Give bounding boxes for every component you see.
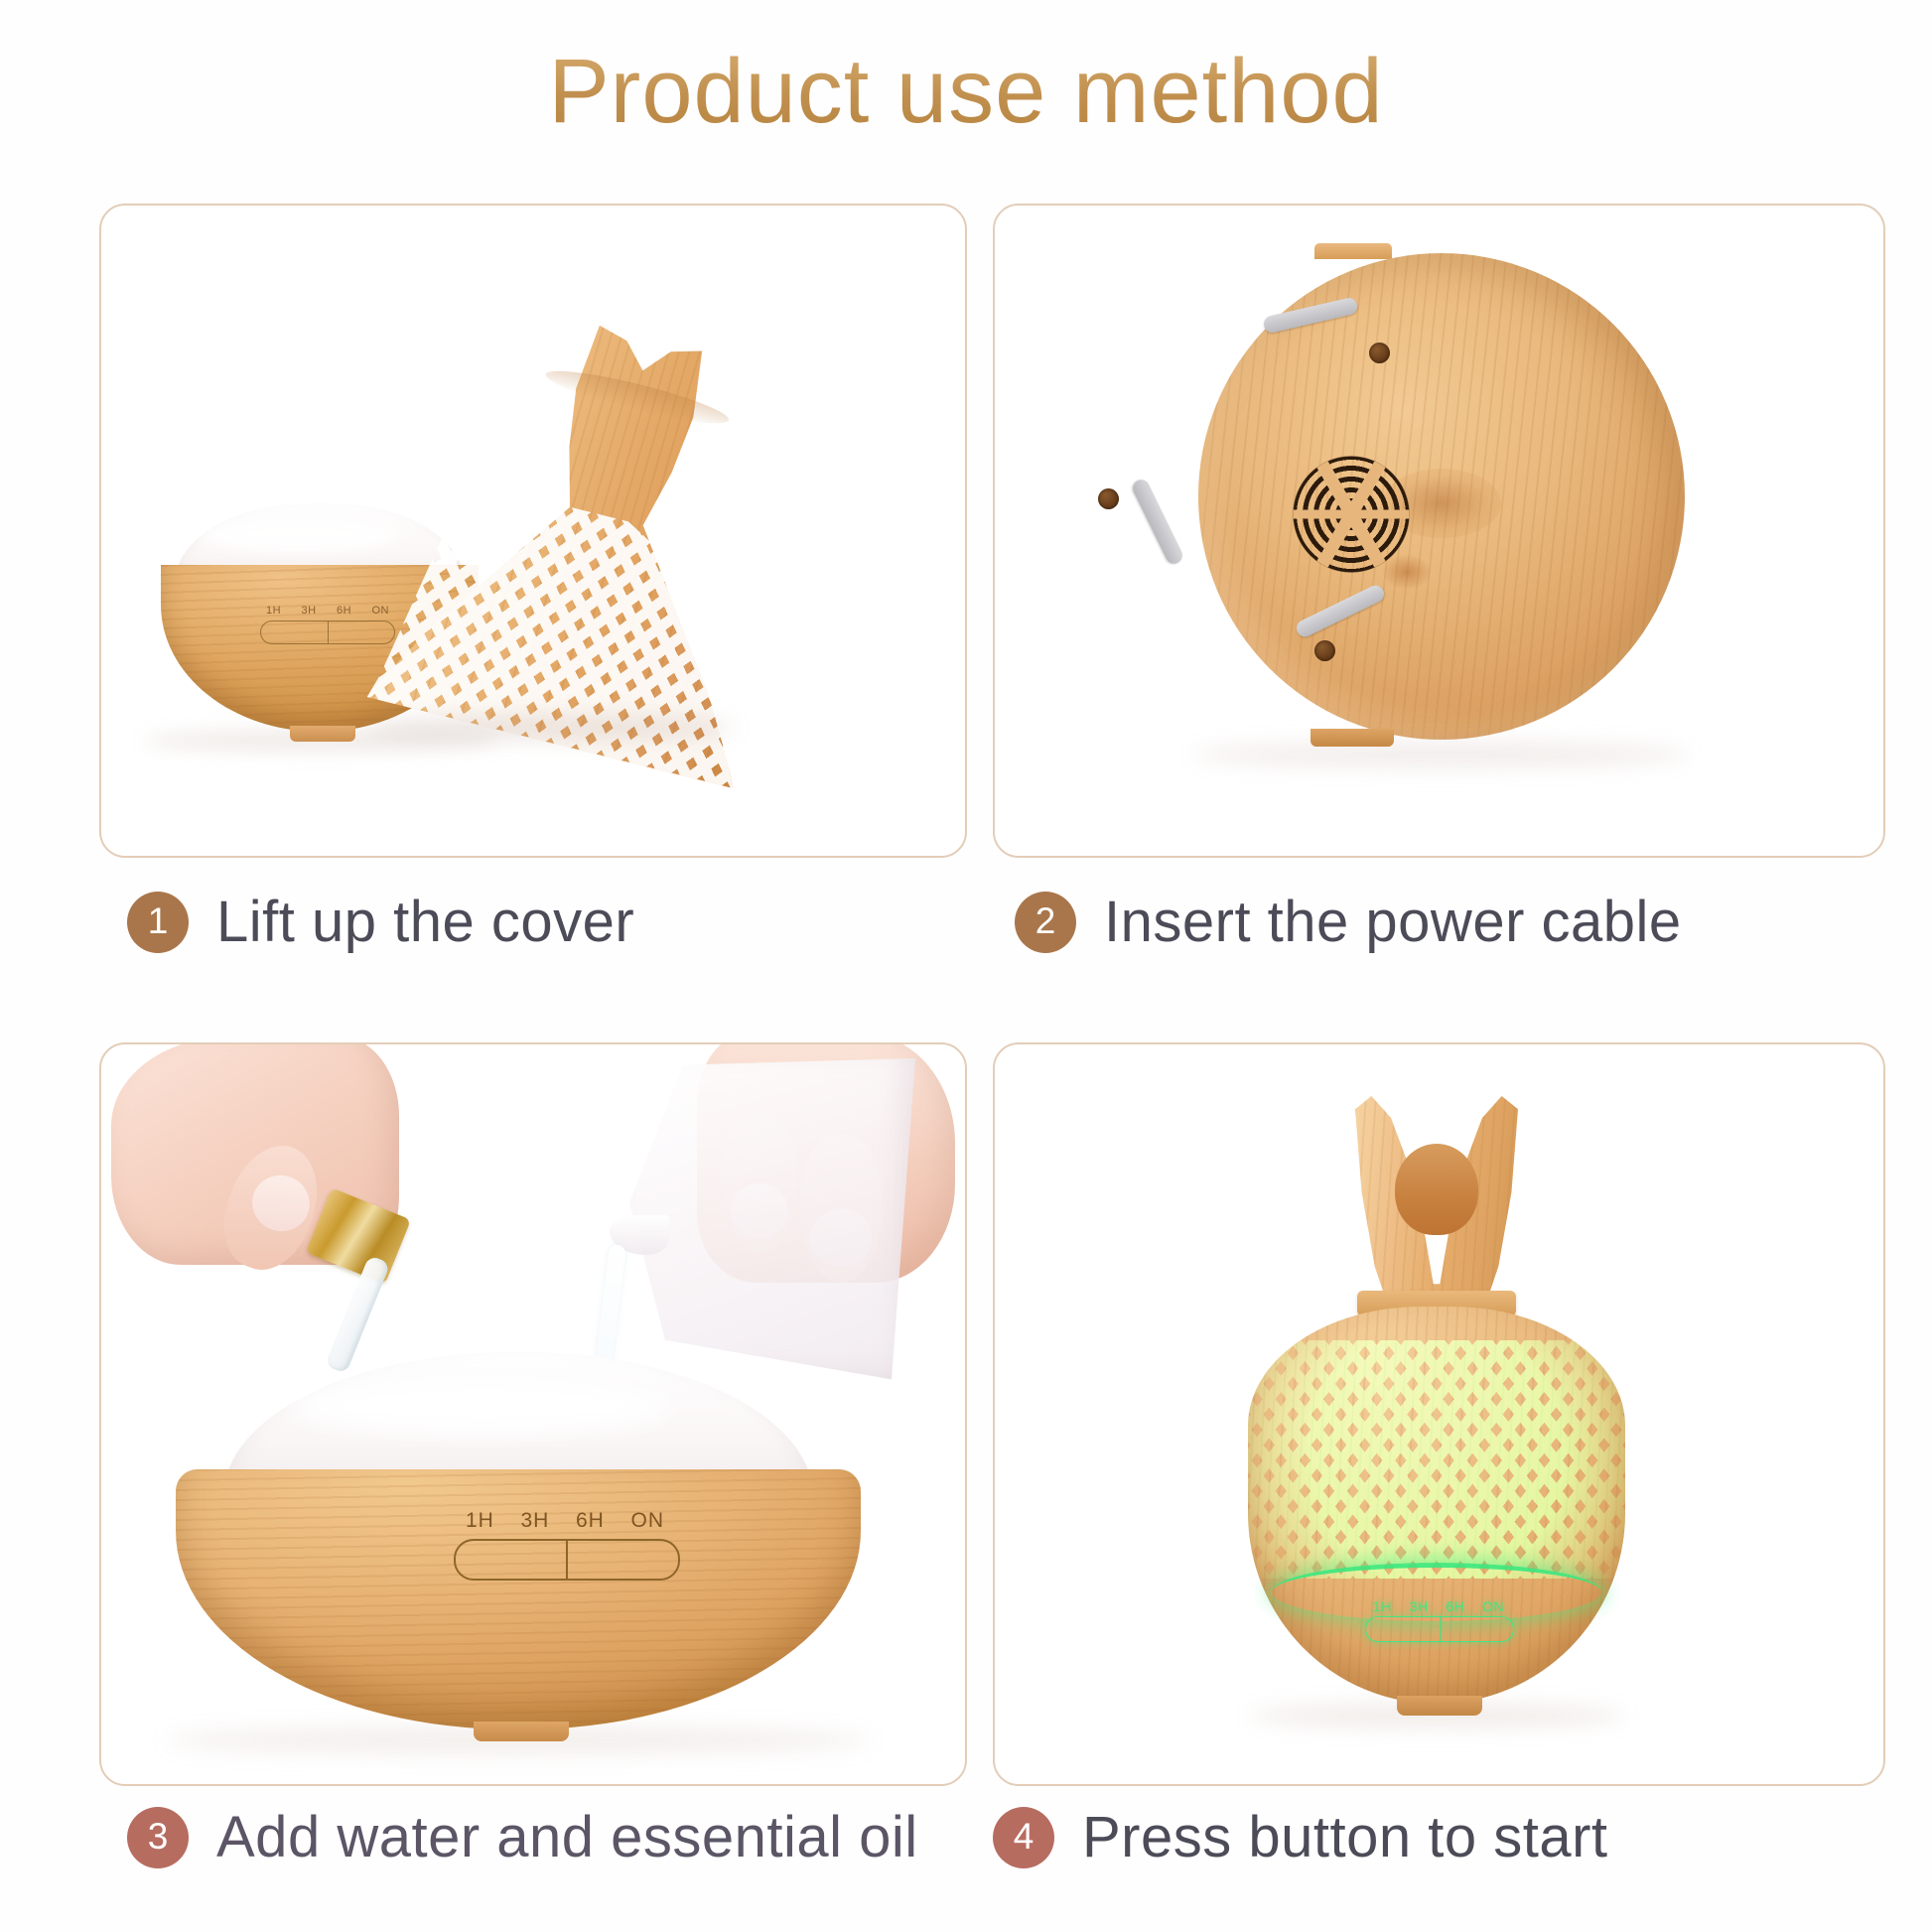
- step-label-3: Add water and essential oil: [216, 1804, 918, 1870]
- light-button[interactable]: [566, 1541, 678, 1579]
- step-1-image: 1H 3H 6H ON: [101, 206, 965, 856]
- timer-label-6h: 6H: [576, 1509, 605, 1533]
- light-button[interactable]: [1440, 1617, 1514, 1641]
- timer-label-6h: 6H: [1446, 1598, 1464, 1614]
- step-card-3[interactable]: 1H 3H 6H ON: [99, 1042, 967, 1786]
- step-caption-2: 2 Insert the power cable: [1015, 889, 1682, 955]
- steps-grid: 1H 3H 6H ON: [0, 204, 1932, 1911]
- step-4-image: 1H 3H 6H ON: [995, 1044, 1883, 1784]
- step-label-4: Press button to start: [1082, 1804, 1608, 1870]
- step-3-image: 1H 3H 6H ON: [101, 1044, 965, 1784]
- screw-3: [1314, 640, 1335, 661]
- step-caption-1: 1 Lift up the cover: [127, 889, 634, 955]
- timer-label-1h: 1H: [1373, 1598, 1392, 1614]
- step-card-4[interactable]: 1H 3H 6H ON: [993, 1042, 1885, 1786]
- base-shadow: [1250, 1704, 1625, 1727]
- timer-labels: 1H 3H 6H ON: [1373, 1598, 1504, 1614]
- timer-label-on: ON: [1482, 1598, 1504, 1614]
- step-card-1[interactable]: 1H 3H 6H ON: [99, 204, 967, 858]
- vent-spokes: [1293, 456, 1410, 573]
- green-led-lattice: [1248, 1340, 1625, 1579]
- control-panel[interactable]: 1H 3H 6H ON: [1365, 1600, 1512, 1648]
- timer-label-3h: 3H: [521, 1509, 550, 1533]
- step-2-image: [995, 206, 1883, 856]
- mist-button[interactable]: [1366, 1617, 1440, 1641]
- top-tab: [1314, 243, 1392, 259]
- vase-mist-outlet: [1395, 1144, 1478, 1235]
- timer-label-on: ON: [631, 1509, 665, 1533]
- screw-2: [1098, 488, 1119, 509]
- underside-shadow: [1193, 742, 1690, 767]
- step-badge-2: 2: [1015, 892, 1076, 953]
- diffuser-base-open: 1H 3H 6H ON: [176, 1352, 861, 1739]
- step-caption-4: 4 Press button to start: [993, 1804, 1608, 1870]
- step-badge-4: 4: [993, 1807, 1054, 1868]
- dropper-gold-cap: [306, 1187, 411, 1284]
- lattice-cover: [345, 212, 870, 795]
- timer-label-1h: 1H: [466, 1509, 494, 1533]
- mist-button[interactable]: [261, 621, 328, 643]
- timer-label-3h: 3H: [1410, 1598, 1429, 1614]
- step-card-2[interactable]: [993, 204, 1885, 858]
- infographic-page: Product use method 1H 3H 6H ON: [0, 0, 1932, 1932]
- mist-button[interactable]: [456, 1541, 566, 1579]
- timer-label-1h: 1H: [266, 605, 281, 617]
- screw-1: [1369, 343, 1390, 363]
- timer-label-6h: 6H: [337, 605, 351, 617]
- step-badge-3: 3: [127, 1807, 189, 1868]
- control-panel[interactable]: 1H 3H 6H ON: [452, 1513, 680, 1587]
- step-badge-1: 1: [127, 892, 189, 953]
- page-title: Product use method: [0, 42, 1932, 142]
- vase-diffuser: 1H 3H 6H ON: [1238, 1096, 1635, 1731]
- control-buttons[interactable]: [1365, 1616, 1514, 1642]
- base-shadow: [166, 1727, 871, 1753]
- control-buttons[interactable]: [454, 1539, 680, 1581]
- cover-shadow: [367, 715, 735, 741]
- timer-labels: 1H 3H 6H ON: [466, 1509, 664, 1533]
- timer-label-3h: 3H: [302, 605, 317, 617]
- step-label-1: Lift up the cover: [216, 889, 634, 955]
- rubber-foot-2: [1130, 477, 1185, 566]
- step-caption-3: 3 Add water and essential oil: [127, 1804, 918, 1870]
- step-label-2: Insert the power cable: [1104, 889, 1682, 955]
